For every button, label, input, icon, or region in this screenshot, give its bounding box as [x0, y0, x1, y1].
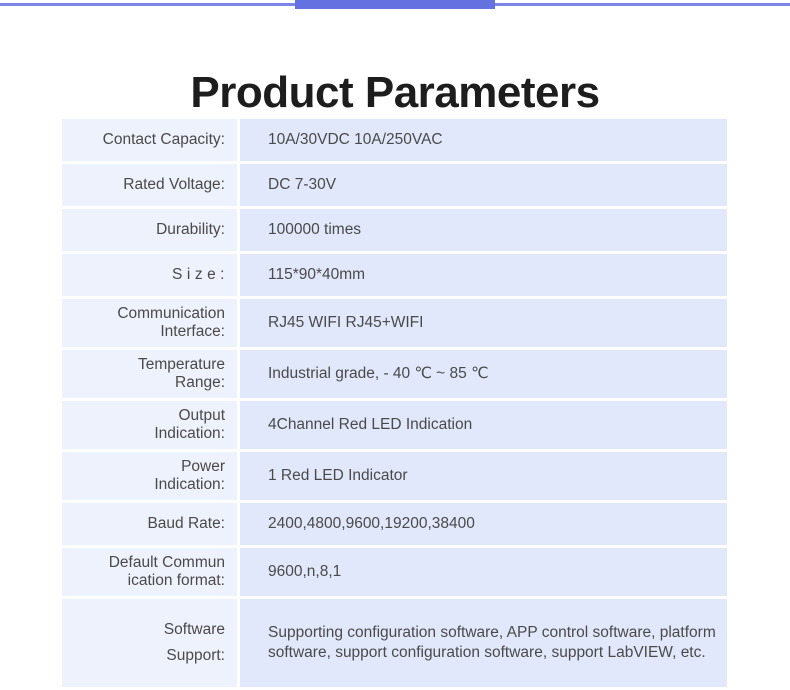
parameter-value: 9600,n,8,1 — [240, 548, 727, 596]
parameter-value: 1 Red LED Indicator — [240, 452, 727, 500]
parameter-value: 2400,4800,9600,19200,38400 — [240, 503, 727, 545]
table-row: Size: 115*90*40mm — [62, 254, 727, 296]
table-row: Temperature Range: Industrial grade, - 4… — [62, 350, 727, 398]
parameter-label: Size: — [62, 254, 237, 296]
table-row: Power Indication: 1 Red LED Indicator — [62, 452, 727, 500]
parameter-value: Supporting configuration software, APP c… — [240, 599, 727, 687]
parameter-label: Temperature Range: — [62, 350, 237, 398]
table-row: Software Support: Supporting configurati… — [62, 599, 727, 687]
parameter-value: DC 7-30V — [240, 164, 727, 206]
parameter-value: 10A/30VDC 10A/250VAC — [240, 119, 727, 161]
parameter-label: Software Support: — [62, 599, 237, 687]
page-title: Product Parameters — [0, 65, 790, 121]
table-row: Contact Capacity: 10A/30VDC 10A/250VAC — [62, 119, 727, 161]
parameter-label: Default Commun ication format: — [62, 548, 237, 596]
top-accent-rule-thick — [295, 0, 495, 9]
parameter-label: Output Indication: — [62, 401, 237, 449]
parameter-label: Contact Capacity: — [62, 119, 237, 161]
parameter-value: 115*90*40mm — [240, 254, 727, 296]
parameter-label: Rated Voltage: — [62, 164, 237, 206]
table-row: Output Indication: 4Channel Red LED Indi… — [62, 401, 727, 449]
table-row: Baud Rate: 2400,4800,9600,19200,38400 — [62, 503, 727, 545]
parameter-label: Baud Rate: — [62, 503, 237, 545]
parameter-value: 100000 times — [240, 209, 727, 251]
product-parameters-table: Contact Capacity: 10A/30VDC 10A/250VAC R… — [62, 119, 727, 690]
parameter-value: Industrial grade, - 40 ℃ ~ 85 ℃ — [240, 350, 727, 398]
table-row: Durability: 100000 times — [62, 209, 727, 251]
table-row: Default Commun ication format: 9600,n,8,… — [62, 548, 727, 596]
table-row: Rated Voltage: DC 7-30V — [62, 164, 727, 206]
parameter-value: RJ45 WIFI RJ45+WIFI — [240, 299, 727, 347]
parameter-label: Durability: — [62, 209, 237, 251]
parameter-label: Communication Interface: — [62, 299, 237, 347]
parameter-value: 4Channel Red LED Indication — [240, 401, 727, 449]
parameter-label: Power Indication: — [62, 452, 237, 500]
table-row: Communication Interface: RJ45 WIFI RJ45+… — [62, 299, 727, 347]
